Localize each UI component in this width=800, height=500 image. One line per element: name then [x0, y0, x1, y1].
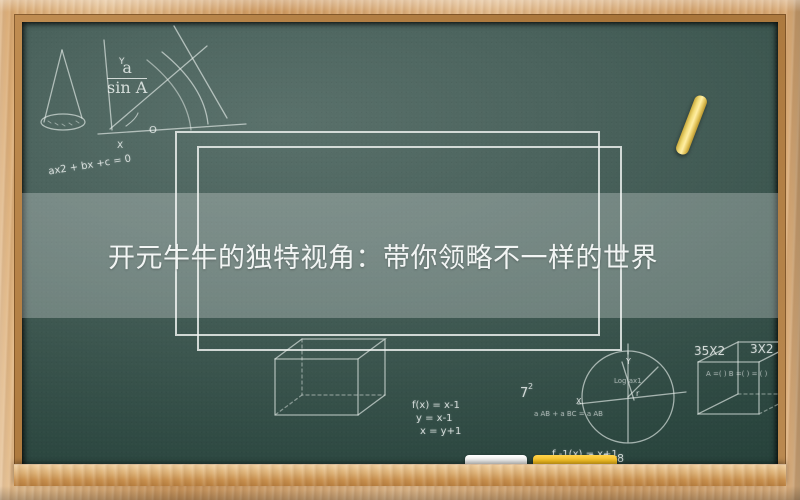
blackboard-scene: a sin A ax2 + bx +c = 0 Y X O f(x) = x-1… — [0, 0, 800, 500]
chalk-matrix-b-label: 3X2 — [750, 342, 774, 356]
chalk-function-line-3: x = y+1 — [420, 426, 461, 437]
chalk-quadratic-equation: ax2 + bx +c = 0 — [48, 154, 132, 178]
chalk-log-left: Log ax1 — [614, 377, 642, 385]
cube-drawing-right — [698, 342, 778, 414]
chalk-axis-label-y: Y — [119, 57, 125, 67]
angle-axes-diagram — [98, 26, 246, 134]
chalk-exponent-seven-power: 2 — [528, 382, 533, 391]
chalk-function-line-2: y = x-1 — [416, 413, 453, 424]
chalk-axis-label-x-right: X — [576, 397, 581, 406]
chalk-vector-note: a AB + a BC = a AB — [534, 410, 603, 418]
chalk-axis-label-y-right: Y — [626, 357, 631, 366]
title-overlay-band: 开元牛牛的独特视角：带你领略不一样的世界 — [22, 193, 778, 318]
chalk-matrix-a-label: 35X2 — [694, 344, 725, 358]
chalk-function-line-1: f(x) = x-1 — [412, 400, 460, 411]
fraction-bar — [107, 78, 147, 79]
chalk-angle-label-o: O — [149, 125, 157, 136]
unit-circle-diagram — [578, 344, 686, 443]
chalk-radius-label: r — [636, 389, 639, 398]
chalkboard-surface: a sin A ax2 + bx +c = 0 Y X O f(x) = x-1… — [22, 22, 778, 470]
chalk-ledge — [14, 464, 786, 486]
chalk-axis-label-x: X — [117, 141, 123, 151]
page-title: 开元牛牛的独特视角：带你领略不一样的世界 — [22, 236, 658, 275]
chalk-matrix-row: A =( ) B =( ) = ( ) — [706, 370, 767, 378]
chalk-fraction-a-over-sinA: a sin A — [107, 60, 147, 97]
yellow-chalk-stick-icon — [674, 94, 708, 157]
cone-drawing — [41, 50, 85, 130]
chalk-exponent-seven: 7 — [520, 386, 528, 401]
